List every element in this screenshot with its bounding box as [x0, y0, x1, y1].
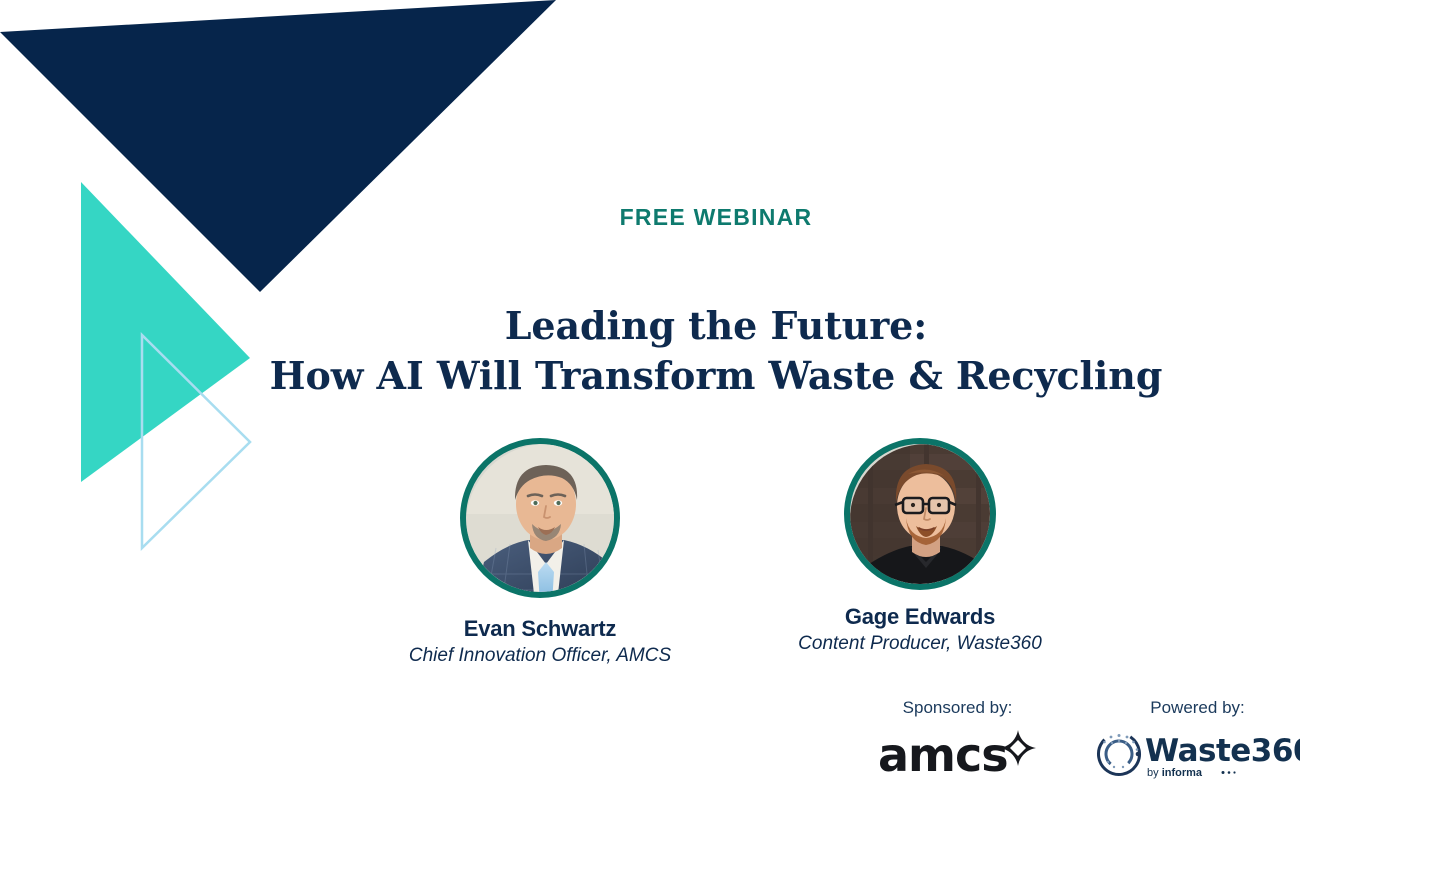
powered-by-caption: Powered by: — [1090, 698, 1305, 718]
avatar — [460, 438, 620, 598]
amcs-logo: amcs — [860, 728, 1055, 780]
sponsored-by-caption: Sponsored by: — [860, 698, 1055, 718]
headshot-evan-schwartz-photo — [466, 444, 614, 592]
svg-text:by informa: by informa — [1147, 767, 1203, 779]
eyebrow-label: FREE WEBINAR — [0, 204, 1432, 231]
speaker-list: Evan Schwartz Chief Innovation Officer, … — [390, 438, 1050, 678]
headshot-gage-edwards-photo — [850, 444, 990, 584]
webinar-promo-slide: FREE WEBINAR Leading the Future: How AI … — [0, 0, 1432, 877]
powered-by-block: Powered by: — [1090, 698, 1305, 780]
speaker-role: Chief Innovation Officer, AMCS — [390, 645, 690, 667]
title-line-2: How AI Will Transform Waste & Recycling — [0, 351, 1432, 401]
waste360-logo: Waste360 by informa — [1090, 728, 1305, 780]
logo-row: Sponsored by: amcs Powered by: — [860, 698, 1360, 808]
title-line-1: Leading the Future: — [0, 301, 1432, 351]
speaker-name: Gage Edwards — [770, 604, 1070, 630]
page-title: Leading the Future: How AI Will Transfor… — [0, 301, 1432, 401]
waste360-circle-icon — [1095, 726, 1148, 782]
avatar — [844, 438, 996, 590]
svg-text:amcs: amcs — [878, 728, 1008, 780]
speaker-name: Evan Schwartz — [390, 616, 690, 642]
speaker-role: Content Producer, Waste360 — [770, 633, 1070, 655]
speaker-card-evan-schwartz: Evan Schwartz Chief Innovation Officer, … — [390, 438, 690, 667]
sponsored-by-block: Sponsored by: amcs — [860, 698, 1055, 780]
speaker-card-gage-edwards: Gage Edwards Content Producer, Waste360 — [770, 438, 1070, 655]
navy-triangle — [0, 0, 556, 292]
svg-text:Waste360: Waste360 — [1145, 733, 1300, 769]
